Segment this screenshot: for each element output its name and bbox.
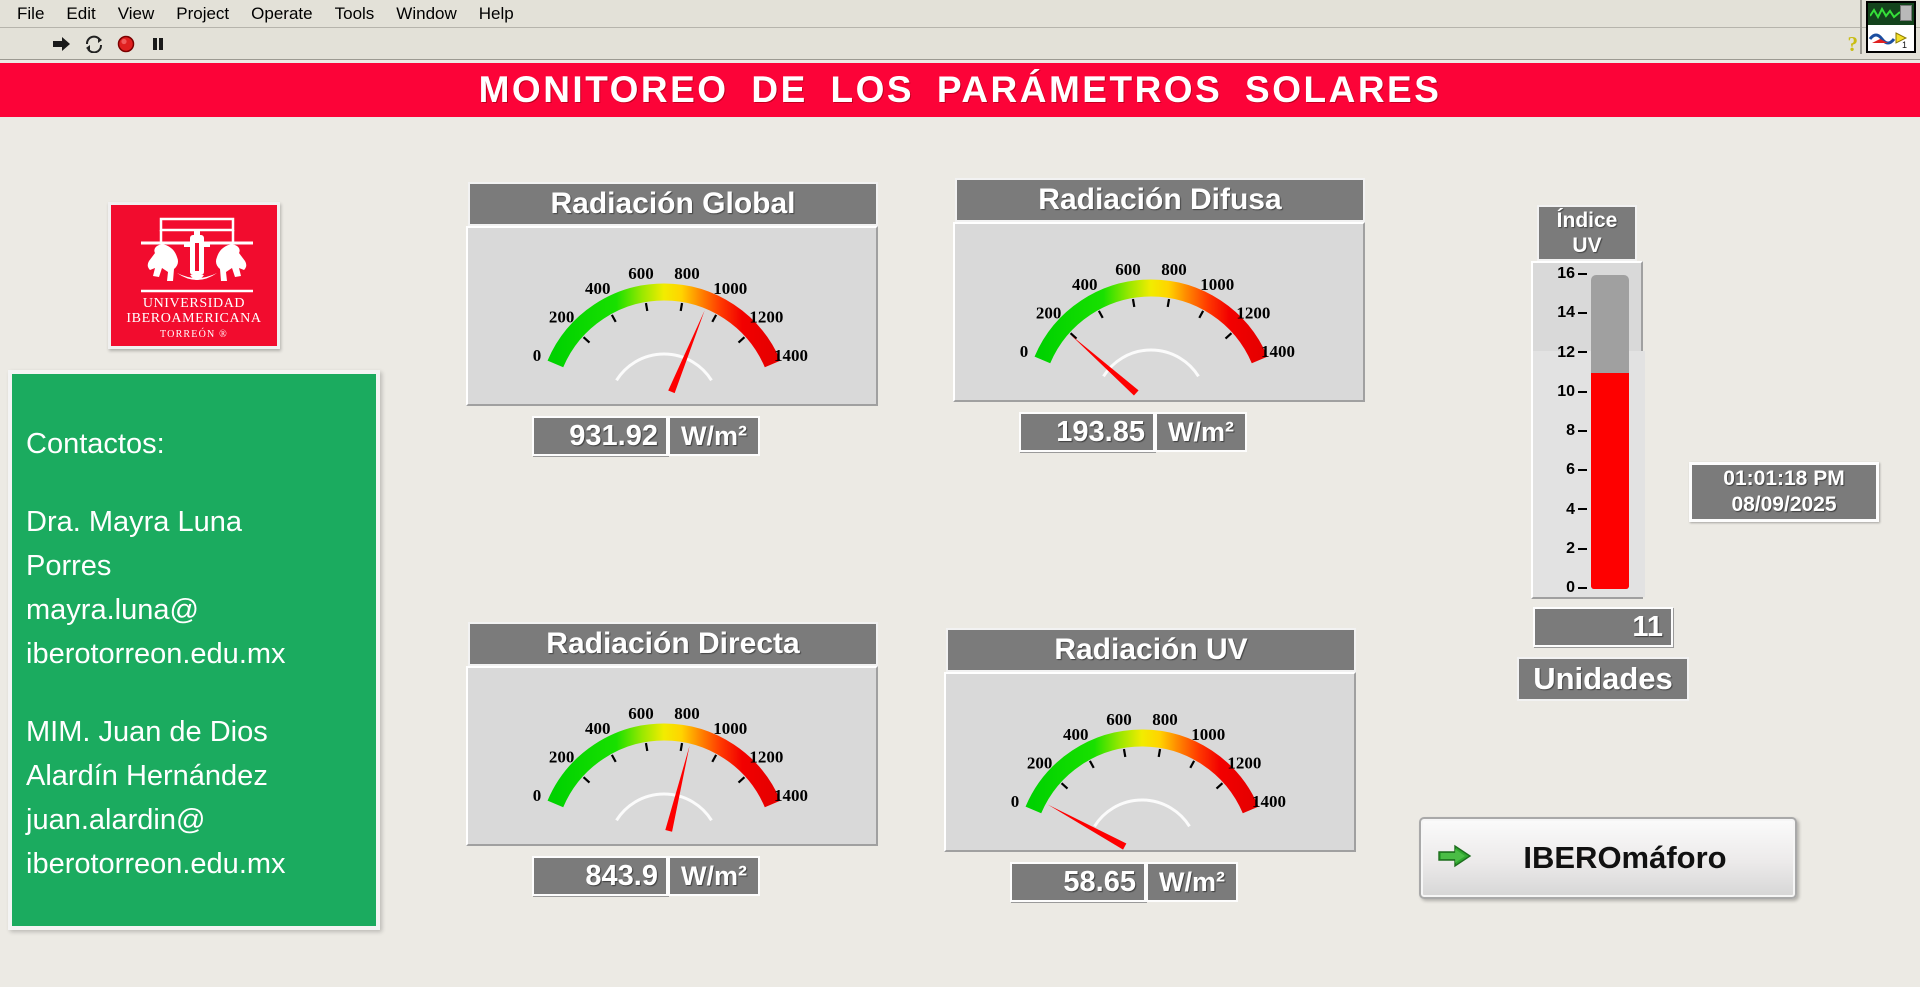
gauge-tick-label: 1000 <box>1191 725 1225 744</box>
university-logo: UNIVERSIDAD IBEROAMERICANA TORREÓN ® <box>108 202 280 349</box>
gauge-tick-label: 0 <box>533 346 542 365</box>
gauge-tick-label: 1000 <box>1200 275 1234 294</box>
gauge-title: Radiación Global <box>468 182 878 226</box>
uv-value-display[interactable]: 11 <box>1533 607 1673 647</box>
gauge-tick-label: 1400 <box>1252 792 1286 811</box>
gauge-tick-label: 400 <box>585 719 611 738</box>
menu-item-help[interactable]: Help <box>468 2 525 26</box>
gauge-tick-label: 1200 <box>749 747 783 766</box>
gauge-tick-label: 0 <box>1011 792 1020 811</box>
gauge-readout: 193.85W/m² <box>1019 412 1365 452</box>
gauge-tick-label: 800 <box>674 264 700 283</box>
contact-2-name-line1: MIM. Juan de Dios <box>26 710 376 754</box>
uv-thermometer[interactable]: 1614121086420 <box>1531 261 1643 599</box>
help-question-icon[interactable]: ? <box>1848 32 1859 57</box>
menu-item-window[interactable]: Window <box>385 2 467 26</box>
gauge-value-display[interactable]: 843.9 <box>532 856 668 896</box>
uv-index-title: Índice UV <box>1537 205 1637 261</box>
uv-tick-label: 12 <box>1557 344 1587 362</box>
menu-item-tools[interactable]: Tools <box>324 2 386 26</box>
gauge-tick-label: 1400 <box>774 786 808 805</box>
contact-1-name-line2: Porres <box>26 544 376 588</box>
uv-tick-label: 2 <box>1566 540 1587 558</box>
gauge-arc: 0200400600800100012001400 <box>946 674 1354 852</box>
gauge-tick-label: 1200 <box>749 307 783 326</box>
uv-scale: 1614121086420 <box>1539 271 1587 593</box>
gauge-tick-label: 1400 <box>774 346 808 365</box>
logo-line-torreon: TORREÓN ® <box>160 329 228 340</box>
gauge-tick-label: 600 <box>1106 710 1132 729</box>
labview-vi-icon[interactable]: 1 <box>1866 1 1916 53</box>
gauge-value-display[interactable]: 931.92 <box>532 416 668 456</box>
gauge-dial[interactable]: 0200400600800100012001400 <box>466 226 878 406</box>
menu-item-project[interactable]: Project <box>165 2 240 26</box>
clock-date: 08/09/2025 <box>1731 492 1836 518</box>
svg-text:1: 1 <box>1902 40 1907 49</box>
gauge-tick-label: 200 <box>1036 303 1062 322</box>
gauge-needle <box>1071 335 1139 396</box>
gauge-radiacion-uv: Radiación UV020040060080010001200140058.… <box>944 628 1356 902</box>
gauge-tick-label: 400 <box>1063 725 1089 744</box>
contact-1-email-line2: iberotorreon.edu.mx <box>26 632 376 676</box>
gauge-tick-label: 1000 <box>713 719 747 738</box>
gauge-dial[interactable]: 0200400600800100012001400 <box>944 672 1356 852</box>
uv-index-indicator: Índice UV 1614121086420 11 Unidades <box>1531 205 1689 701</box>
contact-2-email-line2: iberotorreon.edu.mx <box>26 842 376 886</box>
gauge-needle <box>1048 805 1127 850</box>
gauge-tick-label: 0 <box>533 786 542 805</box>
uv-tick-label: 6 <box>1566 461 1587 479</box>
gauge-unit-label: W/m² <box>668 416 760 456</box>
uv-units-label: Unidades <box>1517 657 1689 701</box>
gauge-needle <box>665 746 689 832</box>
gauge-dial[interactable]: 0200400600800100012001400 <box>466 666 878 846</box>
gauge-tick-label: 400 <box>1072 275 1098 294</box>
gauge-arc: 0200400600800100012001400 <box>468 668 876 846</box>
gauge-dial[interactable]: 0200400600800100012001400 <box>953 222 1365 402</box>
gauge-tick-label: 600 <box>628 264 654 283</box>
gauge-title: Radiación UV <box>946 628 1356 672</box>
gauge-tick-label: 1000 <box>713 279 747 298</box>
clock-time: 01:01:18 PM <box>1723 466 1844 492</box>
toolbar: ? <box>0 28 1920 60</box>
uv-tick-label: 8 <box>1566 422 1587 440</box>
abort-execution-icon[interactable] <box>112 32 140 56</box>
university-crest-icon <box>111 213 283 301</box>
gauge-readout: 843.9W/m² <box>532 856 878 896</box>
gauge-title: Radiación Directa <box>468 622 878 666</box>
contact-2-email-line1: juan.alardin@ <box>26 798 376 842</box>
gauge-tick-label: 1200 <box>1236 303 1270 322</box>
toolbar-divider <box>1860 0 1862 54</box>
contact-person-1: Dra. Mayra Luna Porres mayra.luna@ ibero… <box>26 500 376 676</box>
gauge-readout: 58.65W/m² <box>1010 862 1356 902</box>
gauge-unit-label: W/m² <box>1155 412 1247 452</box>
contacts-panel: Contactos: Dra. Mayra Luna Porres mayra.… <box>8 370 380 930</box>
gauge-tick-label: 1200 <box>1227 753 1261 772</box>
logo-line-iberoamericana: IBEROAMERICANA <box>126 311 261 326</box>
uv-tick-label: 10 <box>1557 383 1587 401</box>
iberomaforo-button-label: IBEROmáforo <box>1473 840 1795 876</box>
gauge-readout: 931.92W/m² <box>532 416 878 456</box>
clock-display: 01:01:18 PM 08/09/2025 <box>1689 462 1879 522</box>
gauge-tick-label: 200 <box>1027 753 1053 772</box>
uv-tick-label: 0 <box>1566 579 1587 597</box>
uv-tick-label: 16 <box>1557 265 1587 283</box>
gauge-unit-label: W/m² <box>668 856 760 896</box>
menu-bar: File Edit View Project Operate Tools Win… <box>0 0 1920 28</box>
menu-item-edit[interactable]: Edit <box>55 2 106 26</box>
uv-tick-label: 4 <box>1566 501 1587 519</box>
uv-fill-bar <box>1591 373 1629 589</box>
gauge-value-display[interactable]: 58.65 <box>1010 862 1146 902</box>
gauge-tick-label: 600 <box>1115 260 1141 279</box>
gauge-unit-label: W/m² <box>1146 862 1238 902</box>
green-arrow-right-icon <box>1437 843 1473 874</box>
gauge-radiacion-global: Radiación Global020040060080010001200140… <box>466 182 878 456</box>
gauge-radiacion-difusa: Radiación Difusa020040060080010001200140… <box>953 178 1365 452</box>
gauge-tick-label: 400 <box>585 279 611 298</box>
page-title-banner: MONITOREO DE LOS PARÁMETROS SOLARES <box>0 63 1920 117</box>
menu-item-operate[interactable]: Operate <box>240 2 323 26</box>
gauge-radiacion-directa: Radiación Directa02004006008001000120014… <box>466 622 878 896</box>
iberomaforo-button[interactable]: IBEROmáforo <box>1419 817 1797 899</box>
run-continuously-icon[interactable] <box>80 32 108 56</box>
gauge-tick-label: 200 <box>549 307 575 326</box>
pause-icon[interactable] <box>144 32 172 56</box>
gauge-tick-label: 800 <box>1152 710 1178 729</box>
gauge-tick-label: 200 <box>549 747 575 766</box>
contacts-heading: Contactos: <box>26 422 376 466</box>
contact-1-name-line1: Dra. Mayra Luna <box>26 500 376 544</box>
uv-title-line1: Índice <box>1557 208 1618 233</box>
uv-tube <box>1591 275 1629 589</box>
page-title: MONITOREO DE LOS PARÁMETROS SOLARES <box>479 69 1442 111</box>
gauge-arc: 0200400600800100012001400 <box>468 228 876 406</box>
contact-2-name-line2: Alardín Hernández <box>26 754 376 798</box>
contact-1-email-line1: mayra.luna@ <box>26 588 376 632</box>
uv-title-line2: UV <box>1572 233 1601 258</box>
gauge-needle <box>668 310 704 393</box>
contact-person-2: MIM. Juan de Dios Alardín Hernández juan… <box>26 710 376 886</box>
gauge-tick-label: 1400 <box>1261 342 1295 361</box>
gauge-tick-label: 0 <box>1020 342 1029 361</box>
uv-tick-label: 14 <box>1557 304 1587 322</box>
gauge-tick-label: 800 <box>1161 260 1187 279</box>
run-arrow-icon[interactable] <box>48 32 76 56</box>
gauge-value-display[interactable]: 193.85 <box>1019 412 1155 452</box>
gauge-tick-label: 600 <box>628 704 654 723</box>
menu-item-view[interactable]: View <box>107 2 166 26</box>
gauge-tick-label: 800 <box>674 704 700 723</box>
gauge-arc: 0200400600800100012001400 <box>955 224 1363 402</box>
menu-item-file[interactable]: File <box>6 2 55 26</box>
gauge-title: Radiación Difusa <box>955 178 1365 222</box>
